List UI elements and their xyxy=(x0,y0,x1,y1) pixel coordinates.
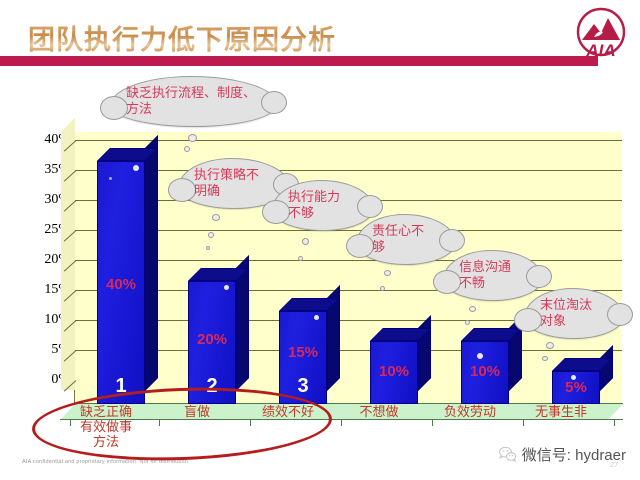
callout-text: 信息沟通 不畅 xyxy=(459,259,529,291)
bar-side-face xyxy=(145,135,158,391)
callout-tail xyxy=(378,258,400,300)
bar-3[interactable]: 15% 3 xyxy=(279,311,327,404)
bar-4[interactable]: 10% xyxy=(370,341,418,404)
callout-tail xyxy=(463,294,485,334)
highlight-dot xyxy=(314,315,319,320)
bar-2[interactable]: 20% 2 xyxy=(188,281,236,404)
bar-6[interactable]: 5% xyxy=(552,371,600,404)
highlight-dot xyxy=(477,353,483,359)
bar-value-label: 20% xyxy=(188,331,236,348)
aia-logo: AIA xyxy=(570,4,632,66)
callout-bubble: 责任心不 够 xyxy=(356,214,456,265)
bar-side-face xyxy=(418,315,431,391)
callout-responsibility[interactable]: 责任心不 够 xyxy=(356,214,456,265)
slide-header: 团队执行力低下原因分析 AIA xyxy=(0,0,640,70)
callout-text: 执行策略不 明确 xyxy=(194,167,276,199)
callout-bubble: 末位淘汰 对象 xyxy=(524,288,624,339)
bar-5[interactable]: 10% xyxy=(461,341,509,404)
callout-tail xyxy=(184,124,208,152)
callout-text: 末位淘汰 对象 xyxy=(540,297,610,329)
page-title: 团队执行力低下原因分析 xyxy=(28,18,336,57)
callout-text: 责任心不 够 xyxy=(372,223,442,255)
bar-value-label: 10% xyxy=(461,363,509,380)
highlight-dot xyxy=(109,177,112,180)
bar-value-label: 5% xyxy=(552,379,600,396)
page-number: 27 xyxy=(610,462,618,469)
callout-elimination[interactable]: 末位淘汰 对象 xyxy=(524,288,624,339)
bar-value-label: 40% xyxy=(97,276,145,293)
callout-text: 缺乏执行流程、制度、 方法 xyxy=(126,85,264,117)
callout-tail xyxy=(540,332,562,372)
bar-value-label: 15% xyxy=(279,344,327,361)
chart-side-wall xyxy=(61,118,75,390)
x-label-6: 无事生非 xyxy=(515,404,607,419)
callout-tail xyxy=(296,224,318,274)
highlight-dot xyxy=(133,165,139,171)
callout-tail xyxy=(206,202,230,256)
callout-bubble: 缺乏执行流程、制度、 方法 xyxy=(110,76,278,127)
x-label-5: 负效劳动 xyxy=(424,404,516,419)
callout-text: 执行能力 不够 xyxy=(288,189,360,221)
bar-value-label: 10% xyxy=(370,363,418,380)
wechat-icon xyxy=(498,445,517,464)
callout-process[interactable]: 缺乏执行流程、制度、 方法 xyxy=(110,76,278,127)
highlight-dot xyxy=(224,285,229,290)
x-label-4: 不想做 xyxy=(333,404,425,419)
title-underline-bar xyxy=(0,56,598,66)
svg-text:AIA: AIA xyxy=(585,41,615,60)
wechat-handle: 微信号: hydraer xyxy=(498,444,626,465)
bar-1[interactable]: 40% 1 xyxy=(97,161,145,404)
